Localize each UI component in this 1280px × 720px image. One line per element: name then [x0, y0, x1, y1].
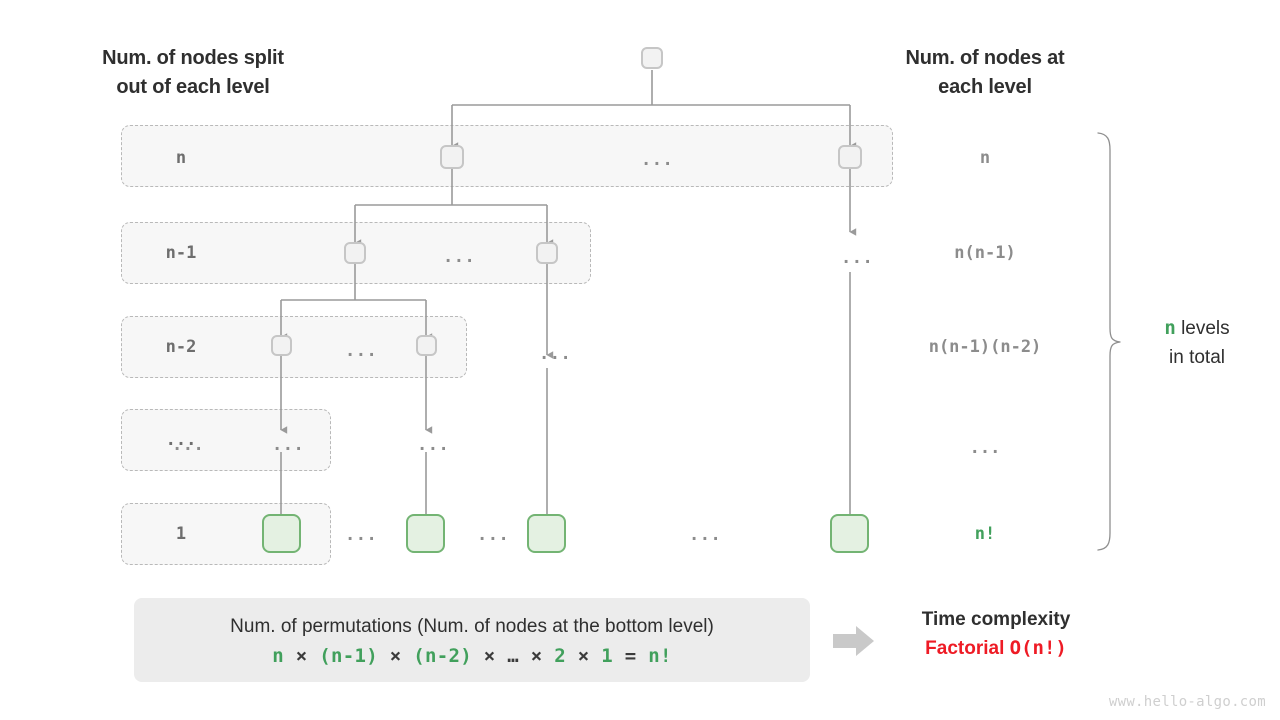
right-column-header-line2: each level — [862, 73, 1108, 102]
level-count-label-2: n(n-1) — [865, 243, 1105, 263]
right-column-header: Num. of nodes at each level — [862, 44, 1108, 102]
time-complexity-title: Time complexity — [880, 606, 1112, 634]
tree-node-root — [641, 47, 663, 69]
tree-node-leaf-4 — [830, 514, 869, 553]
formula-term: = — [625, 645, 637, 667]
time-complexity-bigo: O(n!) — [1010, 637, 1067, 659]
level-count-label-1: n — [865, 148, 1105, 168]
watermark: www.hello-algo.com — [1109, 694, 1266, 710]
formula-term: (n-2) — [413, 645, 472, 667]
formula-term: × — [578, 645, 590, 667]
formula-term: × — [296, 645, 308, 667]
tree-node-l2-b — [536, 242, 558, 264]
tree-node-l3-a — [271, 335, 292, 356]
ellipsis-row4-b: ... — [272, 437, 304, 454]
total-levels-word: levels — [1181, 318, 1230, 339]
ellipsis-leaf-c: ... — [689, 527, 721, 544]
time-complexity-label: Factorial — [925, 638, 1004, 659]
summary-title: Num. of permutations (Num. of nodes at t… — [230, 614, 714, 640]
ellipsis-row4-c: ... — [417, 437, 449, 454]
right-column-header-line1: Num. of nodes at — [862, 44, 1108, 73]
tree-node-l3-b — [416, 335, 437, 356]
summary-box: Num. of permutations (Num. of nodes at t… — [134, 598, 810, 682]
flow-arrow-icon — [832, 624, 876, 658]
tree-node-l1-a — [440, 145, 464, 169]
level-band-1 — [121, 125, 893, 187]
diagram-canvas: Num. of nodes split out of each level Nu… — [0, 0, 1280, 720]
ellipsis-leaf-b: ... — [477, 527, 509, 544]
ellipsis-right-l2: ... — [841, 250, 873, 267]
formula-term: (n-1) — [319, 645, 378, 667]
total-levels-count: n — [1164, 317, 1175, 339]
formula-term: × — [531, 645, 543, 667]
formula-term: × — [484, 645, 496, 667]
tree-node-leaf-2 — [406, 514, 445, 553]
tree-node-l2-a — [344, 242, 366, 264]
total-levels-caption: n levels in total — [1122, 314, 1272, 372]
ellipsis-branch-c: ... — [539, 346, 571, 363]
formula-term: 1 — [601, 645, 613, 667]
tree-node-leaf-1 — [262, 514, 301, 553]
ellipsis-row4-a: ... — [172, 437, 204, 454]
ellipsis-l1-mid: ... — [641, 152, 673, 169]
formula-term: 2 — [554, 645, 566, 667]
level-count-label-5: n! — [865, 524, 1105, 544]
formula-term: n! — [648, 645, 671, 667]
level-count-label-3: n(n-1)(n-2) — [865, 337, 1105, 357]
total-levels-line1: n levels — [1122, 314, 1272, 343]
tree-node-l1-b — [838, 145, 862, 169]
summary-formula: n × (n-1) × (n-2) × … × 2 × 1 = n! — [272, 645, 671, 667]
tree-node-leaf-3 — [527, 514, 566, 553]
level-split-label-1: n — [150, 148, 212, 168]
level-split-label-5: 1 — [150, 524, 212, 544]
formula-term: × — [390, 645, 402, 667]
time-complexity-block: Time complexity Factorial O(n!) — [880, 606, 1112, 663]
time-complexity-value: Factorial O(n!) — [880, 634, 1112, 663]
level-count-label-4: ... — [865, 438, 1105, 458]
level-split-label-2: n-1 — [150, 243, 212, 263]
ellipsis-l3-mid: ... — [345, 343, 377, 360]
level-split-label-3: n-2 — [150, 337, 212, 357]
left-column-header: Num. of nodes split out of each level — [62, 44, 324, 102]
formula-term: n — [272, 645, 284, 667]
ellipsis-leaf-a: ... — [345, 527, 377, 544]
ellipsis-l2-mid: ... — [443, 249, 475, 266]
left-column-header-line1: Num. of nodes split — [62, 44, 324, 73]
left-column-header-line2: out of each level — [62, 73, 324, 102]
formula-term: … — [507, 645, 519, 667]
total-levels-line2: in total — [1122, 343, 1272, 372]
